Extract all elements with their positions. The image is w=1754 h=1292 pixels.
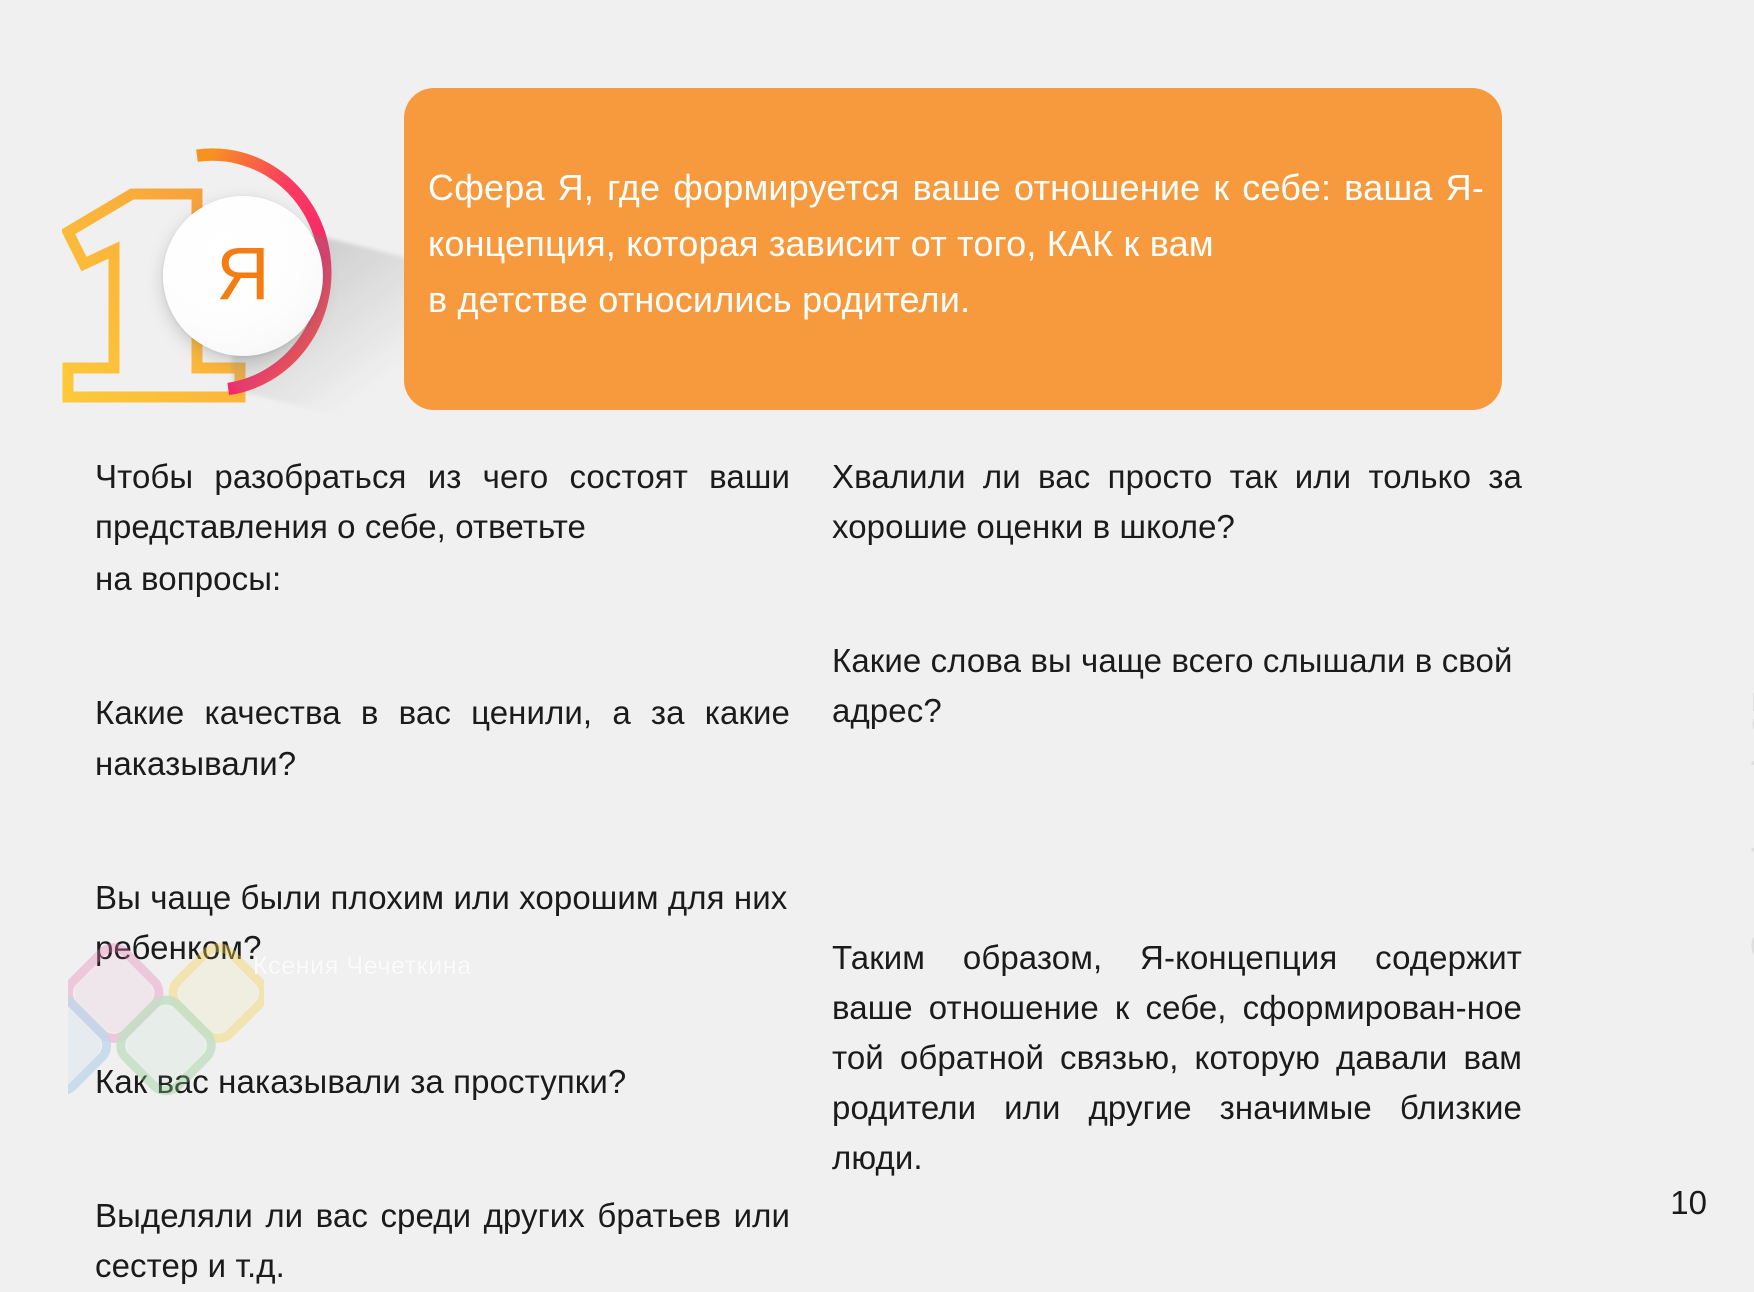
left-paragraph-3: Какие качества в вас ценили, а за какие … <box>95 688 790 788</box>
left-paragraph-6: Выделяли ли вас среди других братьев или… <box>95 1191 790 1291</box>
badge-circle: Я <box>163 196 323 356</box>
slide-root: Я Сфера Я, где формируется ваше отношени… <box>0 0 1754 1240</box>
watermark-author-name: Ксения Чечеткина <box>253 952 472 981</box>
right-column: Хвалили ли вас просто так или только за … <box>832 452 1522 1183</box>
banner-text: Сфера Я, где формируется ваше отношение … <box>428 160 1484 327</box>
right-paragraph-2: Какие слова вы чаще всего слышали в свой… <box>832 636 1522 736</box>
header-group: Я Сфера Я, где формируется ваше отношени… <box>0 0 1754 450</box>
watermark-handle: @psy.ksenia27 <box>1746 690 1754 968</box>
left-paragraph-1: Чтобы разобраться из чего состоят ваши п… <box>95 452 790 552</box>
banner-line-3: в детстве относились родители. <box>428 272 1484 328</box>
page-number: 10 <box>1670 1184 1707 1222</box>
right-paragraph-1: Хвалили ли вас просто так или только за … <box>832 452 1522 552</box>
orange-banner: Сфера Я, где формируется ваше отношение … <box>404 88 1502 410</box>
badge-letter: Я <box>216 237 269 311</box>
left-column: Чтобы разобраться из чего состоят ваши п… <box>95 452 790 1292</box>
brand-logo-diamonds <box>68 912 264 1108</box>
left-paragraph-2: на вопросы: <box>95 554 790 604</box>
banner-line-1: Сфера Я, где формируется ваше отношение … <box>428 167 1331 208</box>
right-paragraph-3: Таким образом, Я-концепция содержит ваше… <box>832 933 1522 1184</box>
